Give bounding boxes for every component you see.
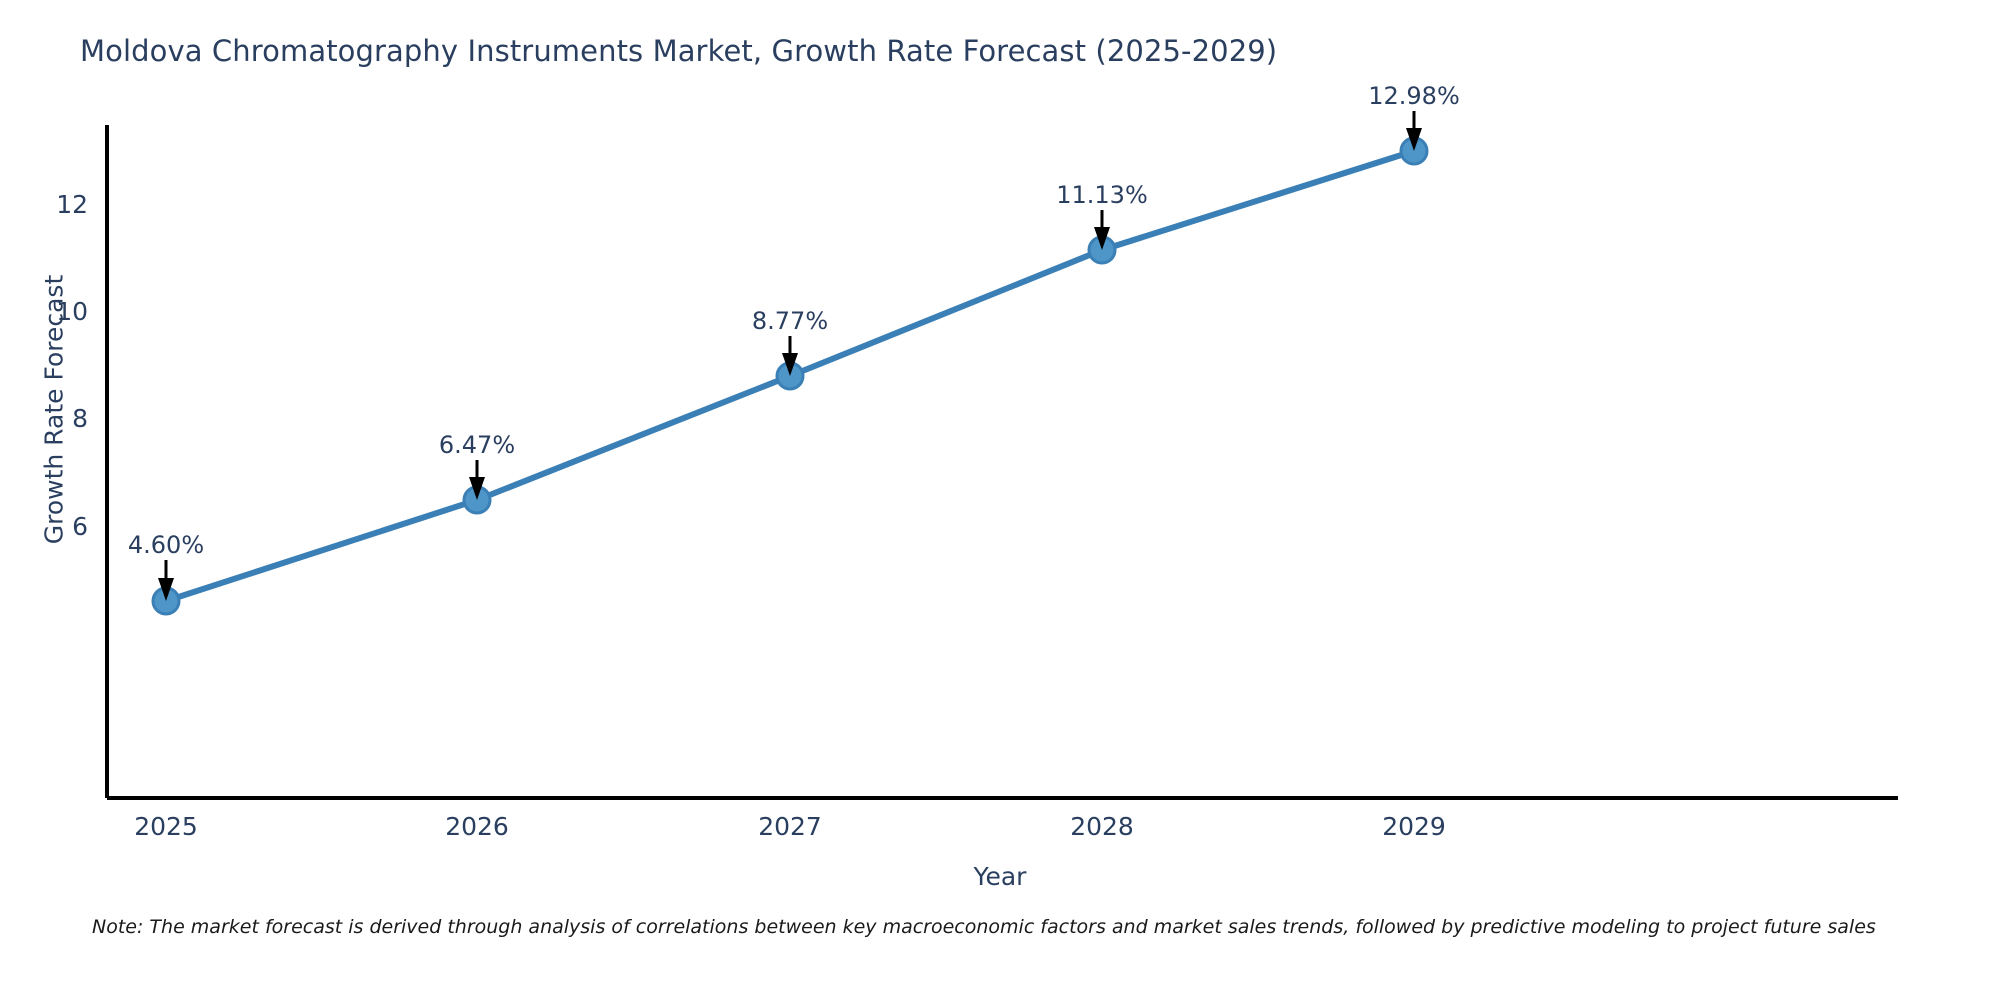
data-point-label: 11.13%	[992, 181, 1212, 209]
x-tick-label: 2026	[397, 812, 557, 841]
y-tick-label: 10	[18, 297, 88, 326]
y-tick-label: 12	[18, 190, 88, 219]
data-point-label: 12.98%	[1304, 82, 1524, 110]
x-tick-label: 2028	[1022, 812, 1182, 841]
x-axis-title: Year	[0, 862, 2000, 891]
chart-note: Note: The market forecast is derived thr…	[92, 916, 1876, 938]
data-point-label: 6.47%	[367, 431, 587, 459]
x-tick-label: 2027	[710, 812, 870, 841]
plot-area	[0, 0, 2000, 1000]
data-point-label: 4.60%	[56, 531, 276, 559]
chart-container: Moldova Chromatography Instruments Marke…	[0, 0, 2000, 1000]
x-tick-label: 2025	[86, 812, 246, 841]
x-tick-label: 2029	[1334, 812, 1494, 841]
y-tick-label: 8	[18, 404, 88, 433]
data-point-label: 8.77%	[680, 307, 900, 335]
